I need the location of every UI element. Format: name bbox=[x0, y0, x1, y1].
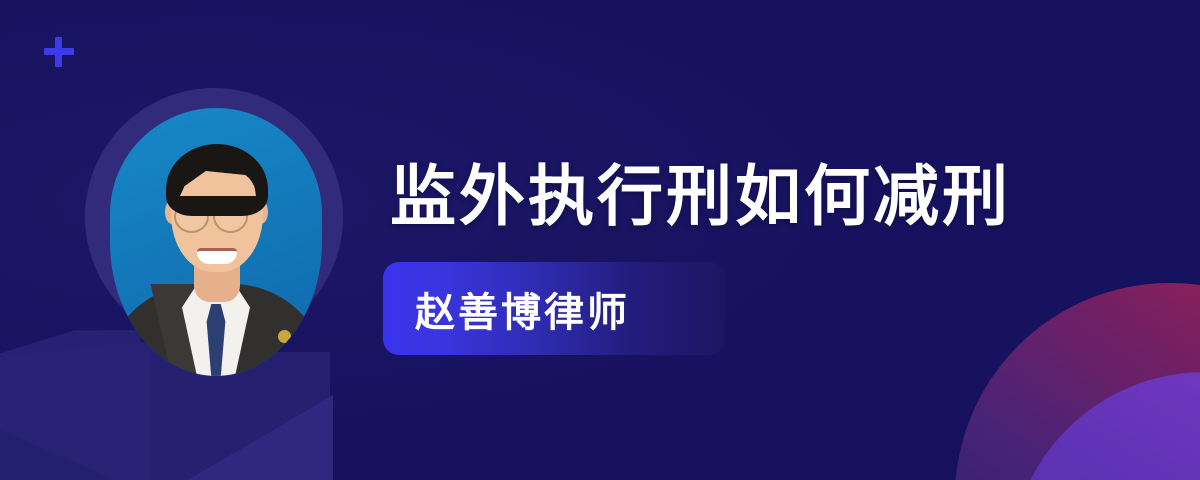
lawyer-name-label: 赵善博律师 bbox=[415, 280, 630, 338]
avatar-lapel-pin bbox=[278, 330, 291, 343]
decor-arc-group bbox=[880, 250, 1200, 480]
banner-canvas: 监外执行刑如何减刑 赵善博律师 bbox=[0, 0, 1200, 480]
page-title: 监外执行刑如何减刑 bbox=[390, 158, 1011, 234]
avatar-mouth bbox=[197, 248, 237, 264]
plus-icon bbox=[44, 37, 74, 67]
avatar bbox=[110, 108, 322, 376]
lawyer-name-badge: 赵善博律师 bbox=[383, 262, 725, 355]
avatar-hair bbox=[166, 144, 268, 216]
